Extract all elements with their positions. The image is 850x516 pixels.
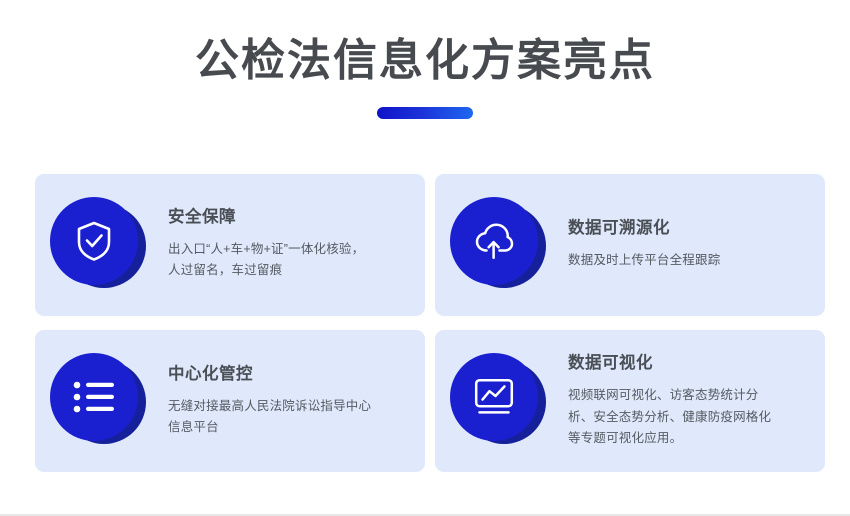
highlight-card-security[interactable]: 安全保障 出入口“人+车+物+证”一体化核验，人过留名，车过留痕 — [35, 174, 425, 316]
badge-circle — [450, 197, 538, 285]
icon-badge — [450, 353, 546, 449]
highlight-card-centralized-control[interactable]: 中心化管控 无缝对接最高人民法院诉讼指导中心信息平台 — [35, 330, 425, 472]
card-text-block: 中心化管控 无缝对接最高人民法院诉讼指导中心信息平台 — [168, 365, 383, 439]
card-description: 出入口“人+车+物+证”一体化核验，人过留名，车过留痕 — [168, 239, 373, 282]
cloud-upload-icon — [472, 220, 516, 262]
card-title: 安全保障 — [168, 208, 373, 228]
badge-circle — [50, 353, 138, 441]
shield-check-icon — [74, 219, 114, 263]
card-description: 无缝对接最高人民法院诉讼指导中心信息平台 — [168, 396, 373, 439]
card-title: 数据可视化 — [568, 354, 783, 374]
title-underline-accent — [377, 107, 473, 119]
card-text-block: 安全保障 出入口“人+车+物+证”一体化核验，人过留名，车过留痕 — [168, 208, 383, 282]
chart-monitor-icon — [473, 377, 515, 417]
card-title: 数据可溯源化 — [568, 219, 720, 239]
page-header: 公检法信息化方案亮点 — [0, 0, 850, 119]
card-text-block: 数据可视化 视频联网可视化、访客态势统计分析、安全态势分析、健康防疫网格化等专题… — [568, 354, 793, 449]
card-description: 数据及时上传平台全程跟踪 — [568, 250, 720, 272]
highlights-page: 公检法信息化方案亮点 安全保障 出入口“人+车+物+证”一体化核验，人 — [0, 0, 850, 516]
card-text-block: 数据可溯源化 数据及时上传平台全程跟踪 — [568, 219, 730, 271]
card-title: 中心化管控 — [168, 365, 373, 385]
badge-circle — [450, 353, 538, 441]
highlight-card-data-traceability[interactable]: 数据可溯源化 数据及时上传平台全程跟踪 — [435, 174, 825, 316]
icon-badge — [450, 197, 546, 293]
badge-circle — [50, 197, 138, 285]
highlight-card-data-visualization[interactable]: 数据可视化 视频联网可视化、访客态势统计分析、安全态势分析、健康防疫网格化等专题… — [435, 330, 825, 472]
icon-badge — [50, 197, 146, 293]
card-description: 视频联网可视化、访客态势统计分析、安全态势分析、健康防疫网格化等专题可视化应用。 — [568, 385, 783, 450]
page-title: 公检法信息化方案亮点 — [0, 38, 850, 84]
highlight-cards-grid: 安全保障 出入口“人+车+物+证”一体化核验，人过留名，车过留痕 — [35, 174, 815, 472]
icon-badge — [50, 353, 146, 449]
bullet-list-icon — [73, 381, 115, 413]
